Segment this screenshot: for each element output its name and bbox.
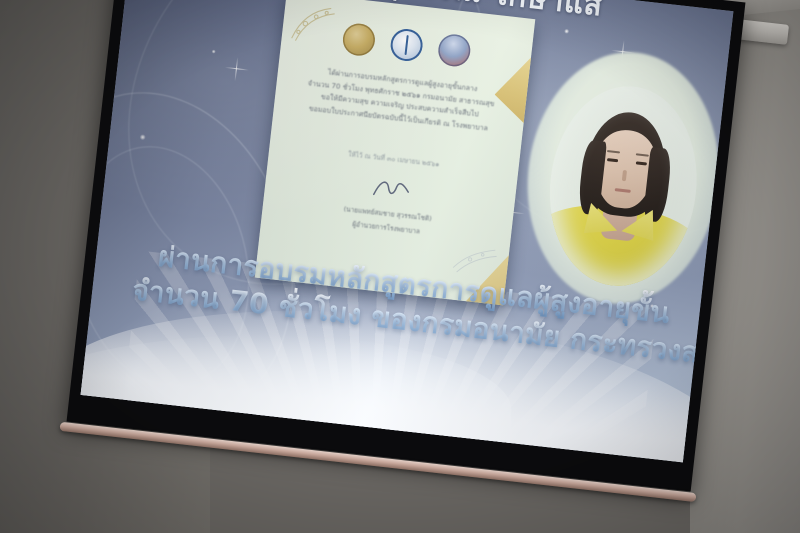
projected-slide: นางสาวสุพรรณี โกษาแส — [81, 0, 734, 462]
garuda-seal-icon — [341, 22, 376, 57]
ministry-of-public-health-seal-icon — [389, 27, 424, 62]
screen-surface: นางสาวสุพรรณี โกษาแส — [81, 0, 734, 462]
portrait-photo — [540, 79, 707, 294]
department-seal-icon — [437, 33, 472, 68]
signature-icon — [367, 174, 416, 205]
certificate-body-text: ได้ผ่านการอบรมหลักสูตรการดูแลผู้สูงอายุข… — [273, 61, 527, 139]
certificate-date: ให้ไว้ ณ วันที่ ๓๐ เมษายน ๒๕๖๑ — [269, 140, 519, 178]
room-photo: นางสาวสุพรรณี โกษาแส — [0, 0, 800, 533]
projector-screen: นางสาวสุพรรณี โกษาแส — [67, 0, 746, 491]
